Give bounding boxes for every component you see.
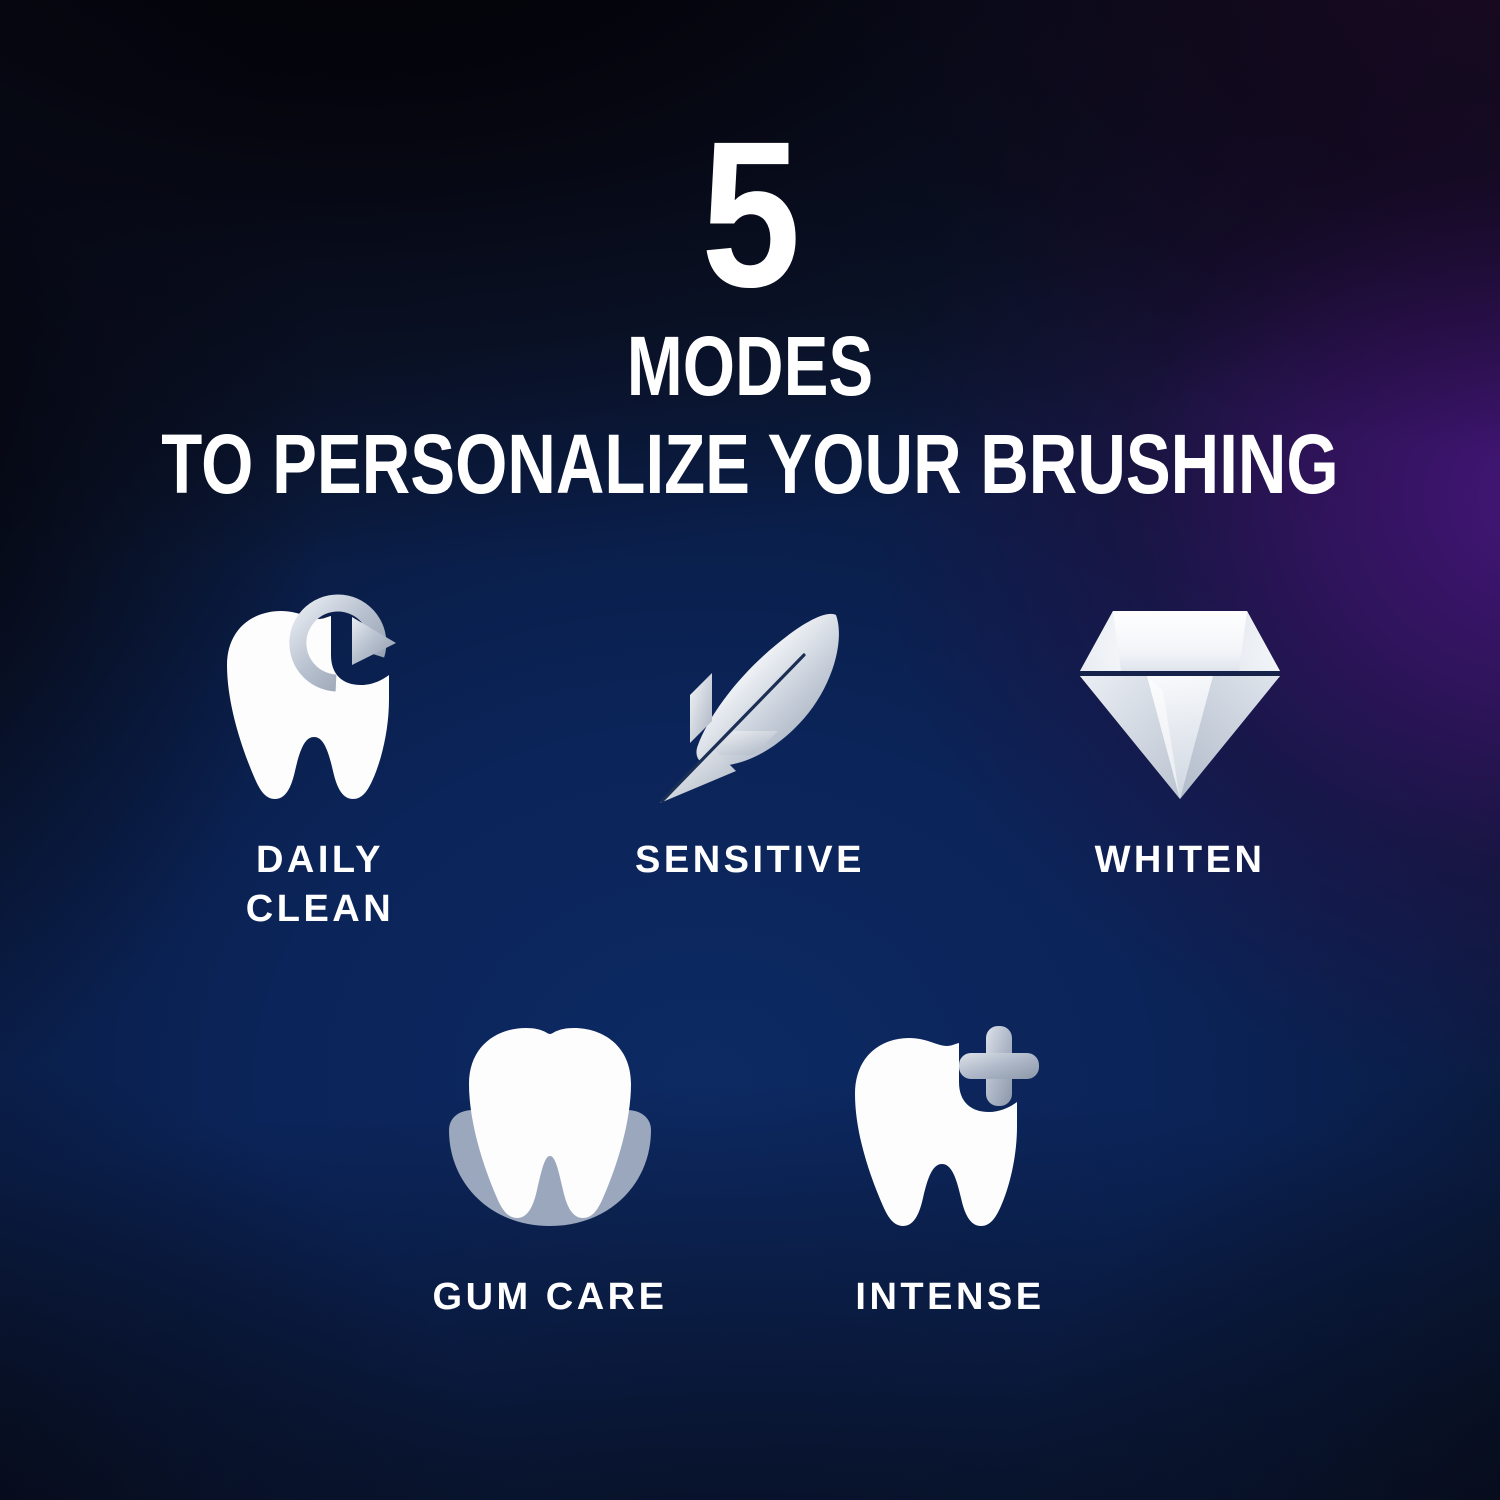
tooth-gum-icon xyxy=(435,1022,665,1237)
headline-modes-word: MODES xyxy=(150,324,1350,408)
mode-count-number: 5 xyxy=(105,118,1395,314)
headline-tagline: TO PERSONALIZE YOUR BRUSHING xyxy=(150,422,1350,506)
modes-row-top: DAILY CLEAN xyxy=(0,598,1500,933)
mode-item-gum-care[interactable]: GUM CARE xyxy=(400,1022,700,1322)
mode-icon-daily-clean xyxy=(215,598,425,808)
diamond-icon xyxy=(1075,603,1285,808)
mode-label-sensitive: SENSITIVE xyxy=(635,836,865,885)
mode-icon-intense xyxy=(845,1022,1055,1237)
mode-label-gum-care: GUM CARE xyxy=(433,1273,668,1322)
mode-label-whiten: WHITEN xyxy=(1095,836,1266,885)
mode-label-intense: INTENSE xyxy=(855,1273,1044,1322)
mode-icon-gum-care xyxy=(435,1022,665,1237)
tooth-rotation-icon xyxy=(215,603,425,808)
headline-block: 5 MODES TO PERSONALIZE YOUR BRUSHING xyxy=(0,118,1500,506)
mode-label-daily-clean: DAILY CLEAN xyxy=(246,836,394,933)
tooth-plus-icon xyxy=(845,1022,1055,1237)
mode-icon-sensitive xyxy=(650,598,850,808)
poster-canvas: 5 MODES TO PERSONALIZE YOUR BRUSHING xyxy=(0,0,1500,1500)
modes-row-bottom: GUM CARE xyxy=(0,1022,1500,1322)
mode-item-intense[interactable]: INTENSE xyxy=(800,1022,1100,1322)
mode-item-sensitive[interactable]: SENSITIVE xyxy=(600,598,900,885)
feather-icon xyxy=(650,603,850,808)
mode-icon-whiten xyxy=(1075,598,1285,808)
mode-item-daily-clean[interactable]: DAILY CLEAN xyxy=(170,598,470,933)
mode-item-whiten[interactable]: WHITEN xyxy=(1030,598,1330,885)
